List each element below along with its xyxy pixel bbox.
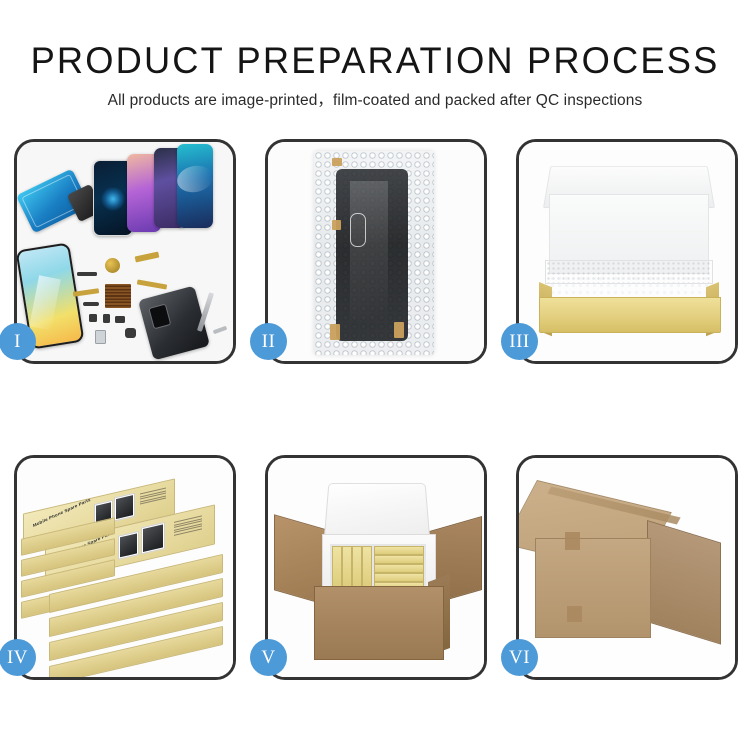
step-panel-6: VI (516, 455, 738, 680)
inner-yellow-box-1 (332, 546, 342, 588)
box-label-text-back: Mobile Phone Spare Parts (32, 497, 91, 528)
button-part-3 (115, 316, 125, 323)
step-image-5 (268, 458, 484, 677)
carton-side-face (647, 520, 721, 645)
step-badge-4: IV (0, 639, 36, 676)
header: PRODUCT PREPARATION PROCESS All products… (0, 0, 750, 111)
ribbon-part-2 (83, 302, 99, 306)
logic-board-chip (105, 284, 131, 308)
step-panel-3: III (516, 139, 738, 364)
inner-yellow-box-7 (374, 564, 424, 573)
teal-phone-display (177, 144, 213, 228)
box-product-image-back-2 (114, 493, 135, 522)
stacked-kraft-boxes-illustration: Mobile Phone Spare Parts Mobile Phone Sp… (17, 458, 233, 677)
process-step-grid: I II (14, 139, 738, 679)
foam-cavity (330, 544, 426, 588)
step-image-3 (519, 142, 735, 361)
speaker-coin-part (105, 258, 120, 273)
carton-front-face (314, 586, 444, 660)
step-badge-5: V (250, 639, 287, 676)
open-kraft-box-with-foam-illustration (519, 142, 735, 361)
inner-yellow-box-6 (374, 555, 424, 564)
ribbon-part-1 (77, 272, 97, 276)
page-subtitle: All products are image-printed，film-coat… (0, 91, 750, 111)
step-image-4: Mobile Phone Spare Parts Mobile Phone Sp… (17, 458, 233, 677)
inner-yellow-box-2 (342, 546, 352, 588)
box-product-image-front-1 (118, 531, 139, 560)
step-panel-5: V (265, 455, 487, 680)
step-panel-2: II (265, 139, 487, 364)
step-image-1 (17, 142, 233, 361)
tweezers-tool (213, 326, 228, 335)
inner-yellow-box-3 (352, 546, 362, 588)
inner-yellow-box-8 (374, 573, 424, 582)
phone-screens-and-parts-illustration (17, 142, 233, 361)
tape-piece-left (330, 324, 340, 340)
screen-notch-highlight (350, 213, 366, 247)
step-panel-4: Mobile Phone Spare Parts Mobile Phone Sp… (14, 455, 236, 680)
carton-with-foam-and-boxes-illustration (268, 458, 484, 677)
inner-yellow-box-5 (374, 546, 424, 555)
sim-tray-part (95, 330, 106, 344)
box-stack: Mobile Phone Spare Parts Mobile Phone Sp… (19, 476, 233, 666)
flex-cable-1 (135, 252, 160, 263)
step-panel-1: I (14, 139, 236, 364)
tape-piece-right (394, 322, 404, 338)
button-part-2 (103, 314, 110, 323)
flex-cable-2 (137, 279, 167, 289)
box-text-lines-back (140, 488, 166, 507)
product-preparation-infographic: PRODUCT PREPARATION PROCESS All products… (0, 0, 750, 750)
box-product-image-front-2 (141, 522, 165, 555)
tape-piece-mid (332, 220, 341, 230)
wrapped-phone-screen (336, 169, 408, 341)
carton-tape-lower (567, 606, 582, 622)
carton-tape-upper (565, 532, 580, 550)
box-front-wall (539, 297, 721, 333)
step-image-6 (519, 458, 735, 677)
camera-module-part (125, 328, 136, 338)
bubble-wrapped-screen-illustration (268, 142, 484, 361)
step-badge-3: III (501, 323, 538, 360)
inner-yellow-box-4 (362, 546, 372, 588)
box-text-lines-front (174, 515, 202, 537)
step-image-2 (268, 142, 484, 361)
carton-front-panel (535, 538, 651, 638)
button-part-1 (89, 314, 97, 322)
step-badge-2: II (250, 323, 287, 360)
page-title: PRODUCT PREPARATION PROCESS (8, 40, 743, 82)
step-badge-6: VI (501, 639, 538, 676)
sealed-carton-illustration (519, 458, 735, 677)
flex-cable-3 (73, 288, 99, 297)
step-badge-1: I (0, 323, 36, 360)
tape-piece-top (332, 158, 342, 166)
